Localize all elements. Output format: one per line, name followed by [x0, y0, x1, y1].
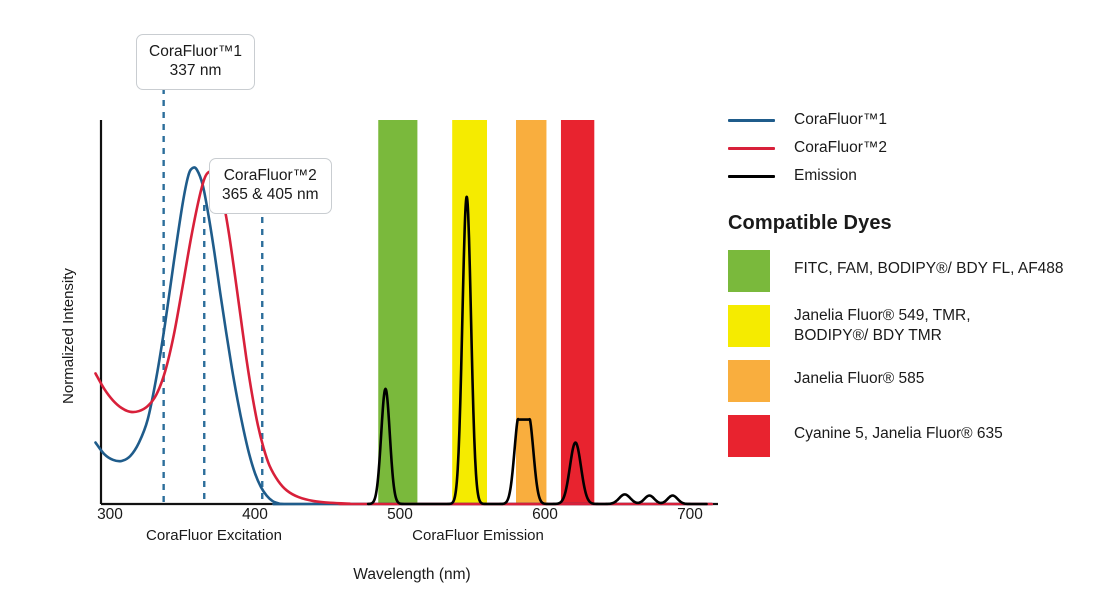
dye-label: Janelia Fluor® 585: [794, 359, 924, 389]
legend-line-swatch: [728, 119, 775, 122]
callout-corafluor1: CoraFluor™1 337 nm: [136, 34, 255, 90]
legend-line-swatch: [728, 147, 775, 150]
dye-row: Janelia Fluor® 585: [728, 359, 1098, 405]
dye-label: Janelia Fluor® 549, TMR,BODIPY®/ BDY TMR: [794, 304, 971, 346]
x-axis-sublabel-excitation: CoraFluor Excitation: [146, 527, 282, 544]
spectra-figure: CoraFluor™1 337 nm CoraFluor™2 365 & 405…: [0, 0, 1110, 612]
legend-row-corafluor1: CoraFluor™1: [728, 106, 1098, 134]
legend-row-corafluor2: CoraFluor™2: [728, 134, 1098, 162]
x-tick-400: 400: [242, 506, 268, 524]
callout-corafluor1-line2: 337 nm: [149, 61, 242, 80]
legend-line-swatch: [728, 175, 775, 178]
green-band: [378, 120, 417, 504]
orange-band: [516, 120, 546, 504]
x-tick-300: 300: [97, 506, 123, 524]
dye-row: Janelia Fluor® 549, TMR,BODIPY®/ BDY TMR: [728, 304, 1098, 350]
dye-label: FITC, FAM, BODIPY®/ BDY FL, AF488: [794, 249, 1064, 279]
callout-corafluor2-line2: 365 & 405 nm: [222, 185, 319, 204]
legend-series-list: CoraFluor™1CoraFluor™2Emission: [728, 106, 1098, 190]
compatible-dyes-title: Compatible Dyes: [728, 212, 1098, 235]
y-axis-title: Normalized Intensity: [60, 236, 77, 436]
dye-color-swatch: [728, 360, 770, 402]
dye-color-swatch: [728, 415, 770, 457]
dye-color-swatch: [728, 305, 770, 347]
dye-color-swatch: [728, 250, 770, 292]
callout-corafluor2: CoraFluor™2 365 & 405 nm: [209, 158, 332, 214]
x-axis-title: Wavelength (nm): [353, 566, 470, 584]
legend-line-label: CoraFluor™1: [794, 111, 887, 129]
dye-row: FITC, FAM, BODIPY®/ BDY FL, AF488: [728, 249, 1098, 295]
dye-row: Cyanine 5, Janelia Fluor® 635: [728, 414, 1098, 460]
x-tick-600: 600: [532, 506, 558, 524]
x-tick-700: 700: [677, 506, 703, 524]
callout-corafluor1-line1: CoraFluor™1: [149, 42, 242, 61]
legend-line-label: CoraFluor™2: [794, 139, 887, 157]
legend: CoraFluor™1CoraFluor™2Emission Compatibl…: [728, 106, 1098, 469]
legend-row-emission: Emission: [728, 162, 1098, 190]
x-axis-sublabel-emission: CoraFluor Emission: [412, 527, 544, 544]
callout-corafluor2-line1: CoraFluor™2: [222, 166, 319, 185]
compatible-dyes-list: FITC, FAM, BODIPY®/ BDY FL, AF488Janelia…: [728, 249, 1098, 460]
dye-label: Cyanine 5, Janelia Fluor® 635: [794, 414, 1003, 444]
legend-line-label: Emission: [794, 167, 857, 185]
x-tick-500: 500: [387, 506, 413, 524]
